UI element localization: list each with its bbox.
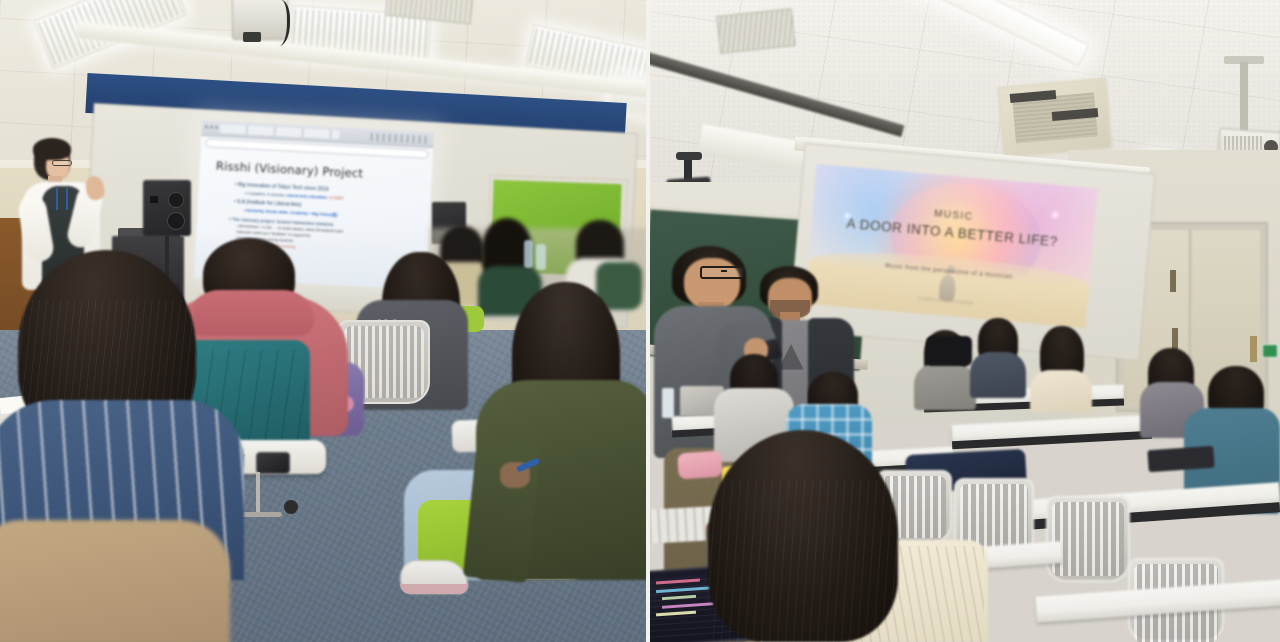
projector-lens xyxy=(243,32,261,42)
browser-toolbar-icons xyxy=(370,133,430,144)
projector-cable xyxy=(268,0,290,46)
browser-tabs xyxy=(220,124,340,139)
chair-back xyxy=(0,520,230,642)
right-photo: MUSIC A DOOR INTO A BETTER LIFE? Music f… xyxy=(648,0,1280,642)
smartphone[interactable] xyxy=(256,452,290,474)
exit-sign-icon xyxy=(1262,344,1278,358)
slide-title: Risshi (Visionary) Project xyxy=(216,159,422,184)
water-bottle xyxy=(536,244,546,270)
student-body xyxy=(914,364,976,410)
glasses-icon xyxy=(52,160,72,166)
laptop[interactable] xyxy=(1147,446,1214,473)
desk-base xyxy=(238,512,282,517)
glasses-bridge xyxy=(721,270,727,272)
speaker-tweeter xyxy=(150,196,158,203)
speaker-bracket xyxy=(676,152,702,160)
speaker-cone xyxy=(167,212,185,230)
door-handle-icon[interactable] xyxy=(1172,328,1178,350)
backpack xyxy=(926,336,972,366)
projected-slide-right: MUSIC A DOOR INTO A BETTER LIFE? Music f… xyxy=(804,164,1097,328)
glasses-icon xyxy=(700,266,744,279)
pencil-case xyxy=(677,450,723,479)
left-photo: Risshi (Visionary) Project • Big Innovat… xyxy=(0,0,648,642)
instructor-hair xyxy=(33,138,71,160)
shoe-sole xyxy=(400,584,468,594)
desk-leg xyxy=(256,472,260,516)
projector-mount xyxy=(1240,62,1248,134)
caster-wheel xyxy=(284,500,298,514)
chair-back-slats xyxy=(1052,502,1124,576)
air-vent-icon xyxy=(716,8,796,54)
hood xyxy=(188,290,314,336)
water-bottle xyxy=(662,388,674,418)
photo-divider xyxy=(646,0,650,642)
lanyard xyxy=(56,188,68,210)
speaker-cone xyxy=(168,192,184,208)
door-handle-icon[interactable] xyxy=(1170,270,1176,292)
student-body xyxy=(970,352,1026,398)
hair-strands xyxy=(708,480,898,642)
window-controls-icon xyxy=(205,125,218,129)
student-body xyxy=(1030,370,1092,412)
speaker-icon xyxy=(143,180,191,236)
water-bottle xyxy=(524,240,533,268)
photo-collage: Risshi (Visionary) Project • Big Innovat… xyxy=(0,0,1280,642)
door-handle-icon[interactable] xyxy=(1250,336,1257,362)
